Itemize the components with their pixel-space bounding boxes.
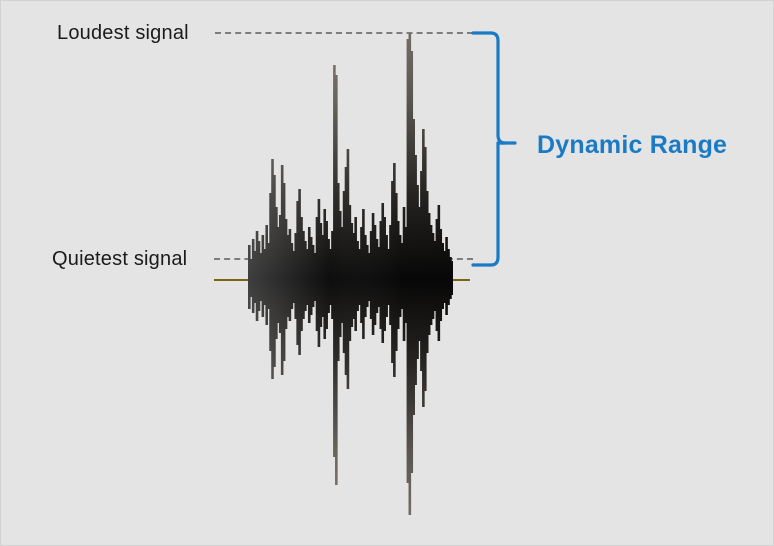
waveform-bars [248, 1, 453, 546]
quietest-signal-label: Quietest signal [52, 249, 187, 269]
bracket-svg [471, 25, 526, 273]
waveform-svg [248, 1, 453, 546]
audio-waveform [248, 1, 453, 546]
dynamic-range-label: Dynamic Range [537, 133, 727, 158]
dynamic-range-bracket [471, 25, 526, 273]
loudest-signal-label: Loudest signal [57, 23, 189, 43]
dynamic-range-diagram: Loudest signal Quietest signal [0, 0, 774, 546]
